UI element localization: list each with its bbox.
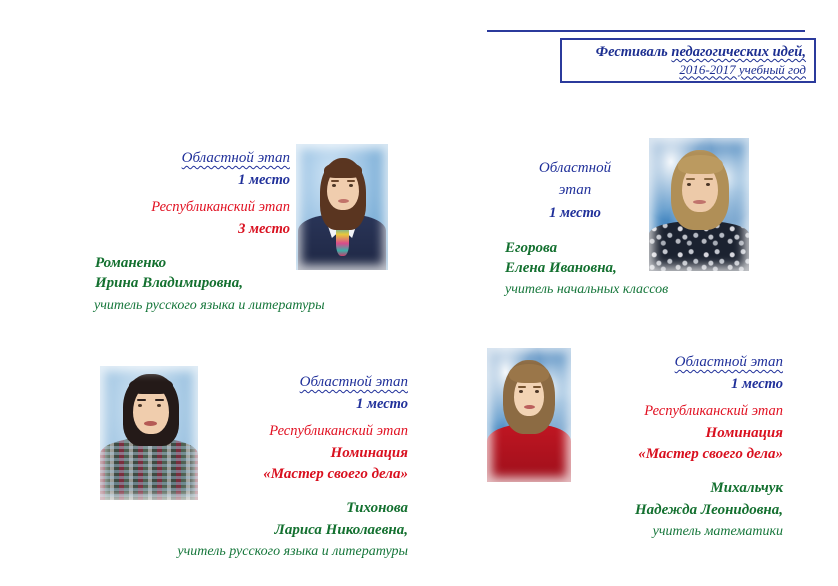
- header-title-underlined: педагогических идей,: [671, 44, 806, 60]
- entry-tihonova-regional-place: 1 место: [208, 395, 408, 414]
- entry-egorova-text: Областной этап 1 место Егорова Елена Ива…: [505, 150, 645, 300]
- entry-mihalchuk-surname: Михальчук: [583, 478, 783, 498]
- entry-tihonova-nomination-title: «Мастер своего дела»: [208, 464, 408, 484]
- entry-mihalchuk-regional-place: 1 место: [583, 375, 783, 394]
- entry-tihonova-text: Областной этап 1 место Республиканский э…: [208, 366, 408, 562]
- portrait-vignette: [100, 366, 198, 500]
- header-title-line: Фестиваль педагогических идей,: [568, 44, 806, 61]
- header-title-main: Фестиваль: [596, 44, 672, 60]
- entry-egorova: Областной этап 1 место Егорова Елена Ива…: [505, 150, 805, 300]
- portrait-vignette: [487, 348, 571, 482]
- entry-romanenko-regional-place: 1 место: [95, 171, 290, 190]
- entry-mihalchuk: Областной этап 1 место Республиканский э…: [487, 348, 802, 542]
- entry-tihonova-role: учитель русского языка и литературы: [98, 543, 408, 562]
- entry-romanenko-role: учитель русского языка и литературы: [94, 297, 290, 316]
- header-divider-line: [487, 30, 805, 32]
- portrait-tihonova: [100, 366, 198, 500]
- header-title-box: Фестиваль педагогических идей, 2016-2017…: [560, 38, 816, 83]
- entry-romanenko-republic-label: Республиканский этап: [95, 198, 290, 217]
- entry-tihonova: Областной этап 1 место Республиканский э…: [100, 366, 410, 562]
- entry-mihalchuk-regional-label: Областной этап: [583, 352, 783, 372]
- entry-romanenko-republic-place: 3 место: [95, 220, 290, 239]
- portrait-vignette: [296, 144, 388, 270]
- portrait-romanenko: [296, 144, 388, 270]
- entry-tihonova-nomination-label: Номинация: [208, 443, 408, 463]
- entry-mihalchuk-republic-label: Республиканский этап: [583, 402, 783, 421]
- entry-egorova-regional-label-line2: этап: [505, 180, 645, 200]
- entry-romanenko-text: Областной этап 1 место Республиканский э…: [95, 144, 290, 315]
- entry-mihalchuk-text: Областной этап 1 место Республиканский э…: [583, 348, 783, 542]
- entry-tihonova-republic-label: Республиканский этап: [208, 422, 408, 441]
- spacer: [208, 484, 408, 498]
- spacer: [95, 239, 290, 253]
- entry-mihalchuk-given-name: Надежда Леонидовна,: [583, 500, 783, 520]
- entry-romanenko-given-name: Ирина Владимировна,: [95, 273, 290, 293]
- entry-mihalchuk-nomination-title: «Мастер своего дела»: [583, 444, 783, 464]
- header-subtitle: 2016-2017 учебный год: [679, 63, 806, 78]
- entry-romanenko: Областной этап 1 место Республиканский э…: [95, 144, 395, 315]
- entry-egorova-regional-label-line1: Областной: [505, 158, 645, 178]
- portrait-vignette: [649, 138, 749, 271]
- entry-tihonova-surname: Тихонова: [208, 498, 408, 518]
- entry-romanenko-regional-label: Областной этап: [95, 148, 290, 168]
- entry-mihalchuk-role: учитель математики: [583, 523, 783, 542]
- entry-romanenko-surname: Романенко: [95, 253, 290, 273]
- entry-tihonova-regional-label: Областной этап: [208, 372, 408, 392]
- entry-tihonova-given-name: Лариса Николаевна,: [208, 520, 408, 540]
- entry-egorova-given-name: Елена Ивановна,: [505, 258, 645, 278]
- entry-egorova-regional-place: 1 место: [505, 204, 645, 223]
- portrait-mihalchuk: [487, 348, 571, 482]
- header-subtitle-row: 2016-2017 учебный год: [568, 61, 806, 79]
- entry-mihalchuk-nomination-label: Номинация: [583, 423, 783, 443]
- portrait-egorova: [649, 138, 749, 271]
- entry-egorova-surname: Егорова: [505, 238, 645, 258]
- entry-egorova-role: учитель начальных классов: [505, 281, 645, 300]
- spacer: [583, 464, 783, 478]
- spacer: [505, 224, 645, 238]
